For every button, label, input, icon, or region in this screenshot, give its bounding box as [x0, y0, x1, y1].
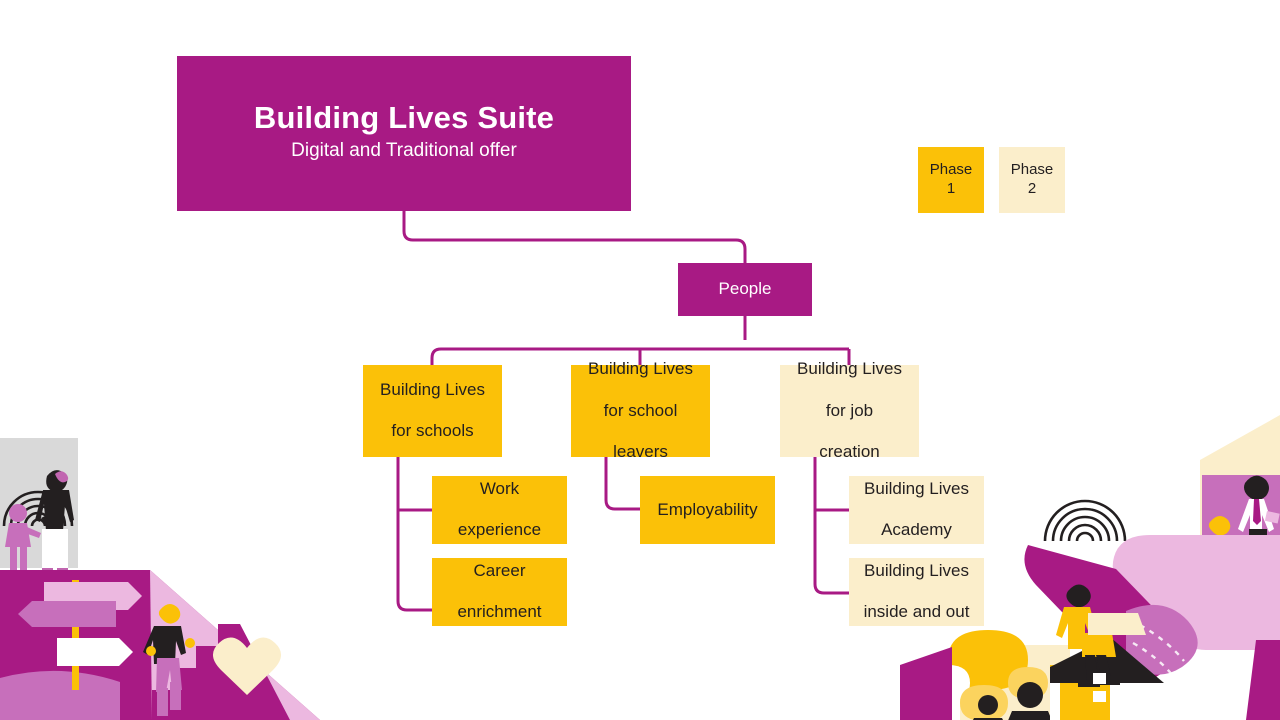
node-building-lives-for-job-creation[interactable]: Building Lives for job creation [780, 365, 919, 457]
line1: Building Lives [571, 359, 710, 380]
line1: Career [432, 561, 567, 582]
legend-phase-2-label: Phase 2 [1011, 161, 1054, 199]
line3: creation [780, 442, 919, 463]
node-building-lives-academy-label: Building Lives Academy [849, 479, 984, 541]
slide-canvas: Building Lives Suite Digital and Traditi… [0, 0, 1280, 720]
node-career-enrichment[interactable]: Career enrichment [432, 558, 567, 626]
line1: Building Lives [780, 359, 919, 380]
line2: for job [780, 401, 919, 422]
node-building-lives-for-job-creation-label: Building Lives for job creation [780, 359, 919, 463]
node-employability[interactable]: Employability [640, 476, 775, 544]
line1: Building Lives [849, 561, 984, 582]
legend-phase-2[interactable]: Phase 2 [999, 147, 1065, 213]
node-people-label: People [678, 279, 812, 300]
node-building-lives-inside-and-out[interactable]: Building Lives inside and out [849, 558, 984, 626]
line2: for school [571, 401, 710, 422]
node-employability-label: Employability [640, 500, 775, 521]
page-title: Building Lives Suite [177, 99, 631, 137]
legend-phase-2-line2: 2 [1028, 180, 1036, 197]
node-people[interactable]: People [678, 263, 812, 316]
legend-phase-2-line1: Phase [1011, 161, 1054, 178]
line2: enrichment [432, 602, 567, 623]
node-career-enrichment-label: Career enrichment [432, 561, 567, 623]
node-building-lives-inside-and-out-label: Building Lives inside and out [849, 561, 984, 623]
line2: experience [432, 520, 567, 541]
line1: Building Lives [363, 380, 502, 401]
line1: Building Lives [849, 479, 984, 500]
node-work-experience-label: Work experience [432, 479, 567, 541]
line1: Work [432, 479, 567, 500]
title-card: Building Lives Suite Digital and Traditi… [177, 56, 631, 211]
node-building-lives-for-school-leavers-label: Building Lives for school leavers [571, 359, 710, 463]
legend-phase-1-label: Phase 1 [930, 161, 973, 199]
legend-phase-1-line1: Phase [930, 161, 973, 178]
node-building-lives-for-school-leavers[interactable]: Building Lives for school leavers [571, 365, 710, 457]
node-building-lives-for-schools[interactable]: Building Lives for schools [363, 365, 502, 457]
node-building-lives-academy[interactable]: Building Lives Academy [849, 476, 984, 544]
node-building-lives-for-schools-label: Building Lives for schools [363, 380, 502, 442]
node-work-experience[interactable]: Work experience [432, 476, 567, 544]
line2: inside and out [849, 602, 984, 623]
legend-phase-1[interactable]: Phase 1 [918, 147, 984, 213]
line2: Academy [849, 520, 984, 541]
line3: leavers [571, 442, 710, 463]
line2: for schools [363, 421, 502, 442]
page-subtitle: Digital and Traditional offer [177, 139, 631, 162]
legend-phase-1-line2: 1 [947, 180, 955, 197]
